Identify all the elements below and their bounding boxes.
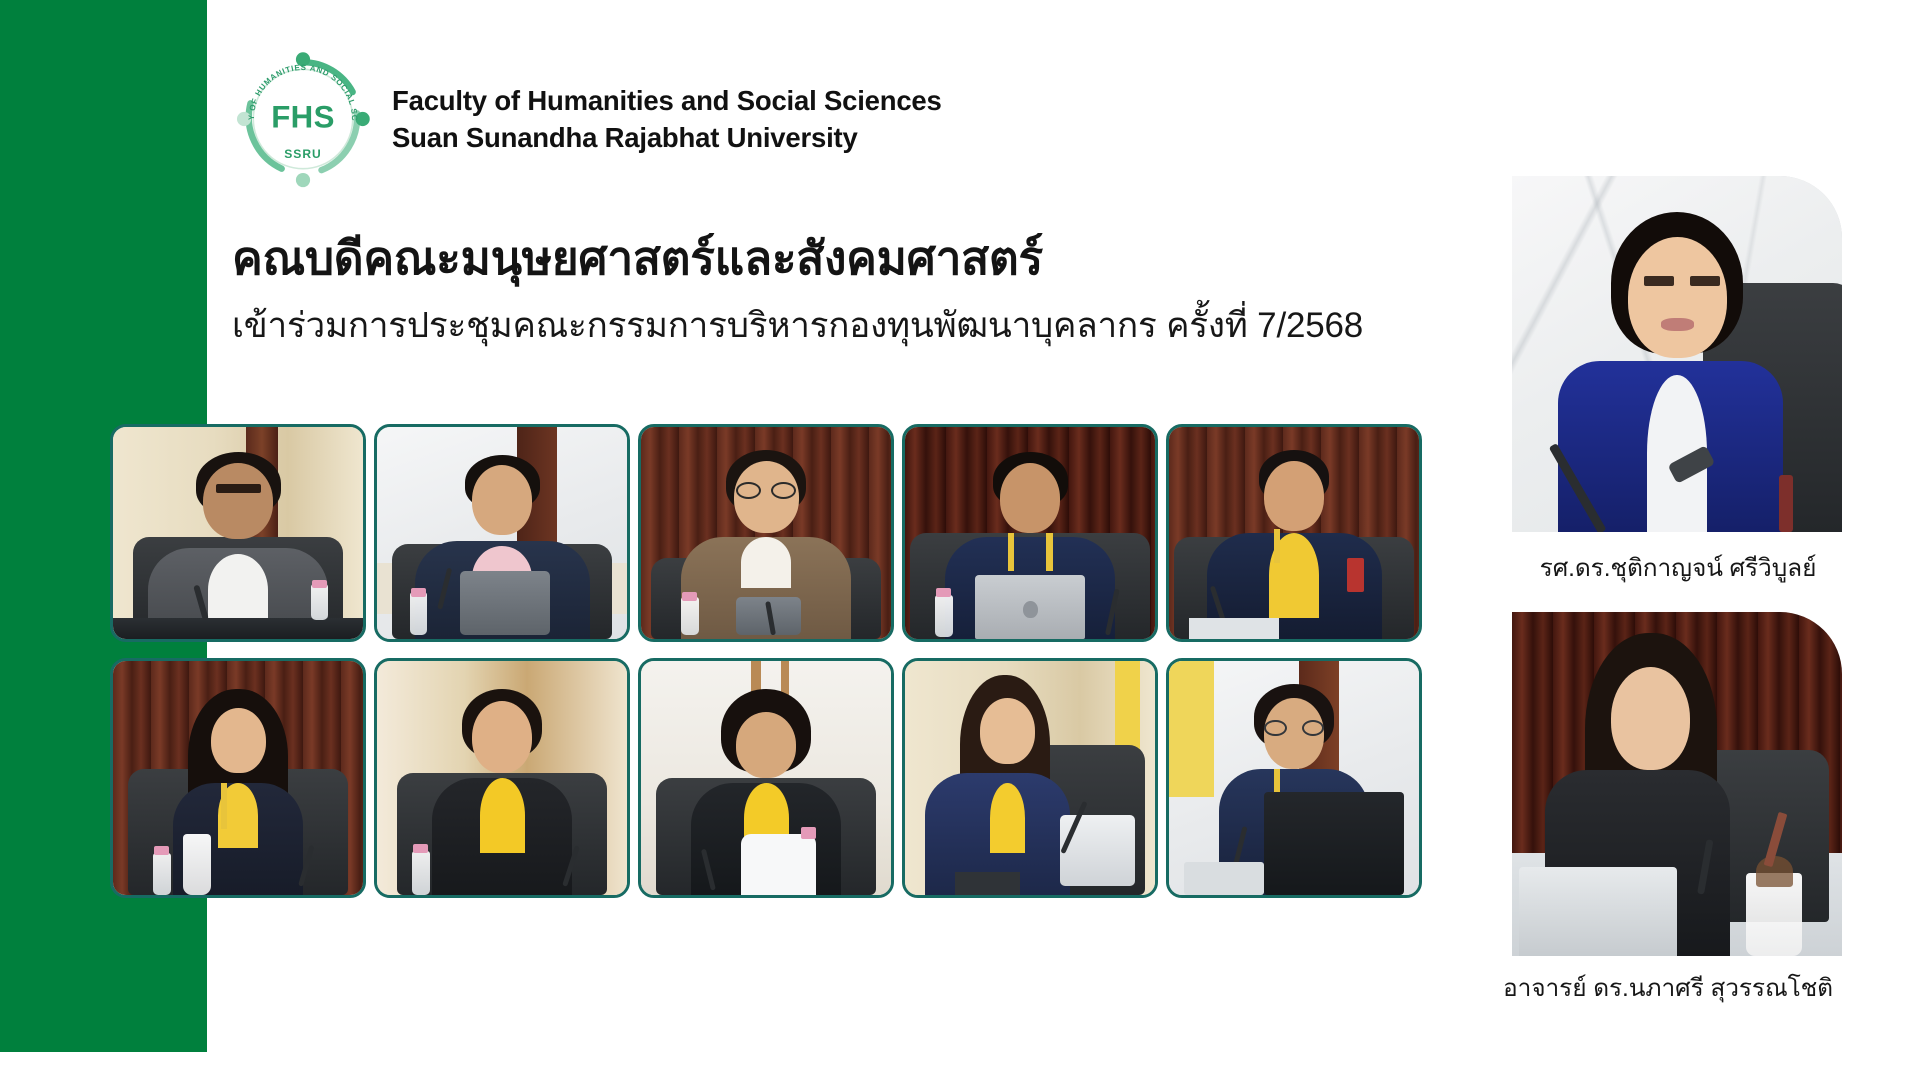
photo-thumbnail-2[interactable] [374,424,630,642]
photo-thumbnail-6[interactable] [110,658,366,898]
brand-header: FACULTY OF HUMANITIES AND SOCIAL SCIENCE… [232,48,942,190]
photo-thumbnail-10[interactable] [1166,658,1422,898]
feature-caption-2: อาจารย์ ดร.นภาศรี สุวรรณโชติ [1458,968,1878,1007]
page-title: คณบดีคณะมนุษยศาสตร์และสังคมศาสตร์ [232,232,1043,284]
photo-thumbnail-7[interactable] [374,658,630,898]
photo-thumbnail-8[interactable] [638,658,894,898]
svg-text:SSRU: SSRU [284,147,322,161]
brand-line-university: Suan Sunandha Rajabhat University [392,120,942,155]
page-subtitle: เข้าร่วมการประชุมคณะกรรมการบริหารกองทุนพ… [232,305,1363,347]
svg-text:FHS: FHS [271,100,335,135]
feature-caption-1: รศ.ดร.ชุติกาญจน์ ศรีวิบูลย์ [1468,548,1888,587]
photo-thumbnail-3[interactable] [638,424,894,642]
poster-root: FACULTY OF HUMANITIES AND SOCIAL SCIENCE… [0,0,1920,1080]
photo-thumbnail-5[interactable] [1166,424,1422,642]
photo-thumbnail-9[interactable] [902,658,1158,898]
photo-grid [110,424,1422,898]
feature-photo-2[interactable] [1512,612,1842,956]
photo-thumbnail-4[interactable] [902,424,1158,642]
brand-line-faculty: Faculty of Humanities and Social Science… [392,83,942,118]
photo-thumbnail-1[interactable] [110,424,366,642]
fhs-ssru-circular-logo: FACULTY OF HUMANITIES AND SOCIAL SCIENCE… [232,48,374,190]
feature-photo-1[interactable] [1512,176,1842,532]
brand-text-block: Faculty of Humanities and Social Science… [392,83,942,155]
